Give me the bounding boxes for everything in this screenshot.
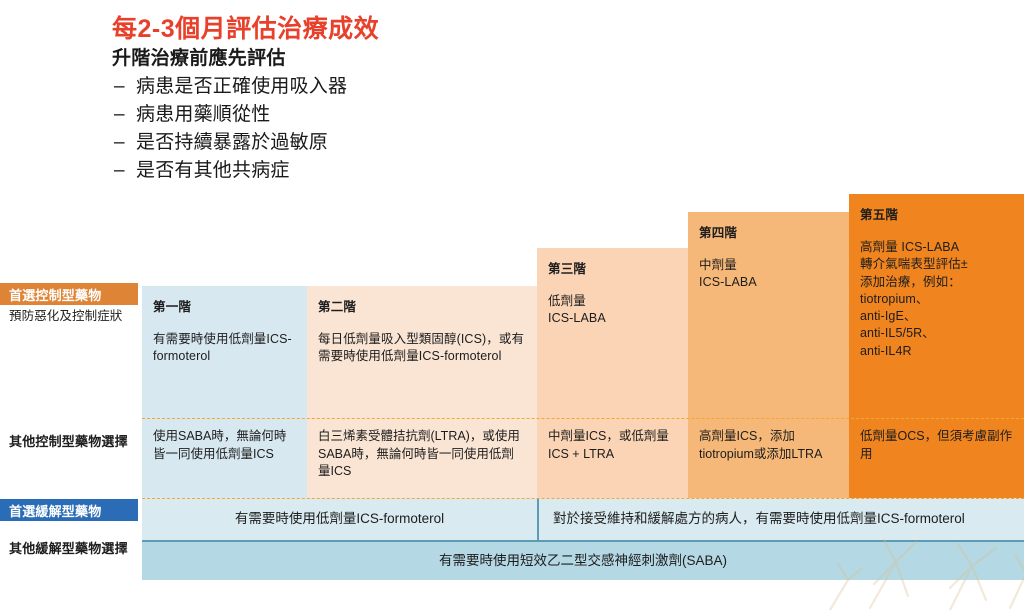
preferred-reliever-left-cell: 有需要時使用低劑量ICS-formoterol [142,498,537,540]
asthma-stepwise-treatment-table: 第一階 有需要時使用低劑量ICS-formoterol 第二階 每日低劑量吸入型… [0,190,1024,520]
row-label-preferred-controller-sub: 預防惡化及控制症狀 [0,308,138,358]
bullet-dash-icon: – [112,74,136,101]
page-subtitle: 升階治療前應先評估 [112,47,732,71]
row-label-preferred-controller: 首選控制型藥物 [0,283,138,305]
step-1-controller-text: 有需要時使用低劑量ICS-formoterol [153,331,296,366]
bullet-dash-icon: – [112,102,136,129]
bullet-text: 是否持續暴露於過敏原 [136,130,328,157]
step-2-title: 第二階 [318,296,526,315]
step-4-title: 第四階 [699,222,838,241]
bullet-item: – 病患用藥順從性 [112,102,732,129]
step-1-title: 第一階 [153,296,296,315]
step-5-controller-text: 高劑量 ICS-LABA 轉介氣喘表型評估± 添加治療，例如： tiotropi… [860,239,1013,360]
bullet-item: – 病患是否正確使用吸入器 [112,74,732,101]
row-label-other-controller: 其他控制型藥物選擇 [0,433,138,479]
step-3-controller-text: 低劑量 ICS-LABA [548,293,677,328]
step-4-controller-text: 中劑量 ICS-LABA [699,257,838,292]
reliever-vertical-divider [537,499,539,540]
preferred-reliever-right-cell: 對於接受維持和緩解處方的病人，有需要時使用低劑量ICS-formoterol [539,498,1024,540]
bullet-item: – 是否有其他共病症 [112,158,732,185]
step-2-controller-text: 每日低劑量吸入型類固醇(ICS)，或有需要時使用低劑量ICS-formotero… [318,331,526,366]
bullet-dash-icon: – [112,130,136,157]
row-label-preferred-reliever: 首選緩解型藥物 [0,499,138,521]
bullet-text: 是否有其他共病症 [136,158,290,185]
other-controller-text-2: 白三烯素受體拮抗劑(LTRA)，或使用SABA時，無論何時皆一同使用低劑量ICS [307,418,537,498]
header-block: 每2-3個月評估治療成效 升階治療前應先評估 – 病患是否正確使用吸入器 – 病… [112,14,732,186]
other-reliever-cell: 有需要時使用短效乙二型交感神經刺激劑(SABA) [142,542,1024,580]
other-controller-text-5: 低劑量OCS，但須考慮副作用 [849,418,1024,498]
bullet-item: – 是否持續暴露於過敏原 [112,130,732,157]
step-3-title: 第三階 [548,258,677,277]
other-controller-text-1: 使用SABA時，無論何時皆一同使用低劑量ICS [142,418,307,498]
reliever-divider-dashed [142,498,1024,499]
bullet-dash-icon: – [112,158,136,185]
other-controller-text-4: 高劑量ICS，添加tiotropium或添加LTRA [688,418,849,498]
bullet-text: 病患用藥順從性 [136,102,270,129]
other-controller-text-3: 中劑量ICS，或低劑量ICS + LTRA [537,418,688,498]
step-5-title: 第五階 [860,204,1013,223]
row-label-other-reliever: 其他緩解型藥物選擇 [0,540,138,584]
page-title: 每2-3個月評估治療成效 [112,14,732,45]
bullet-text: 病患是否正確使用吸入器 [136,74,347,101]
